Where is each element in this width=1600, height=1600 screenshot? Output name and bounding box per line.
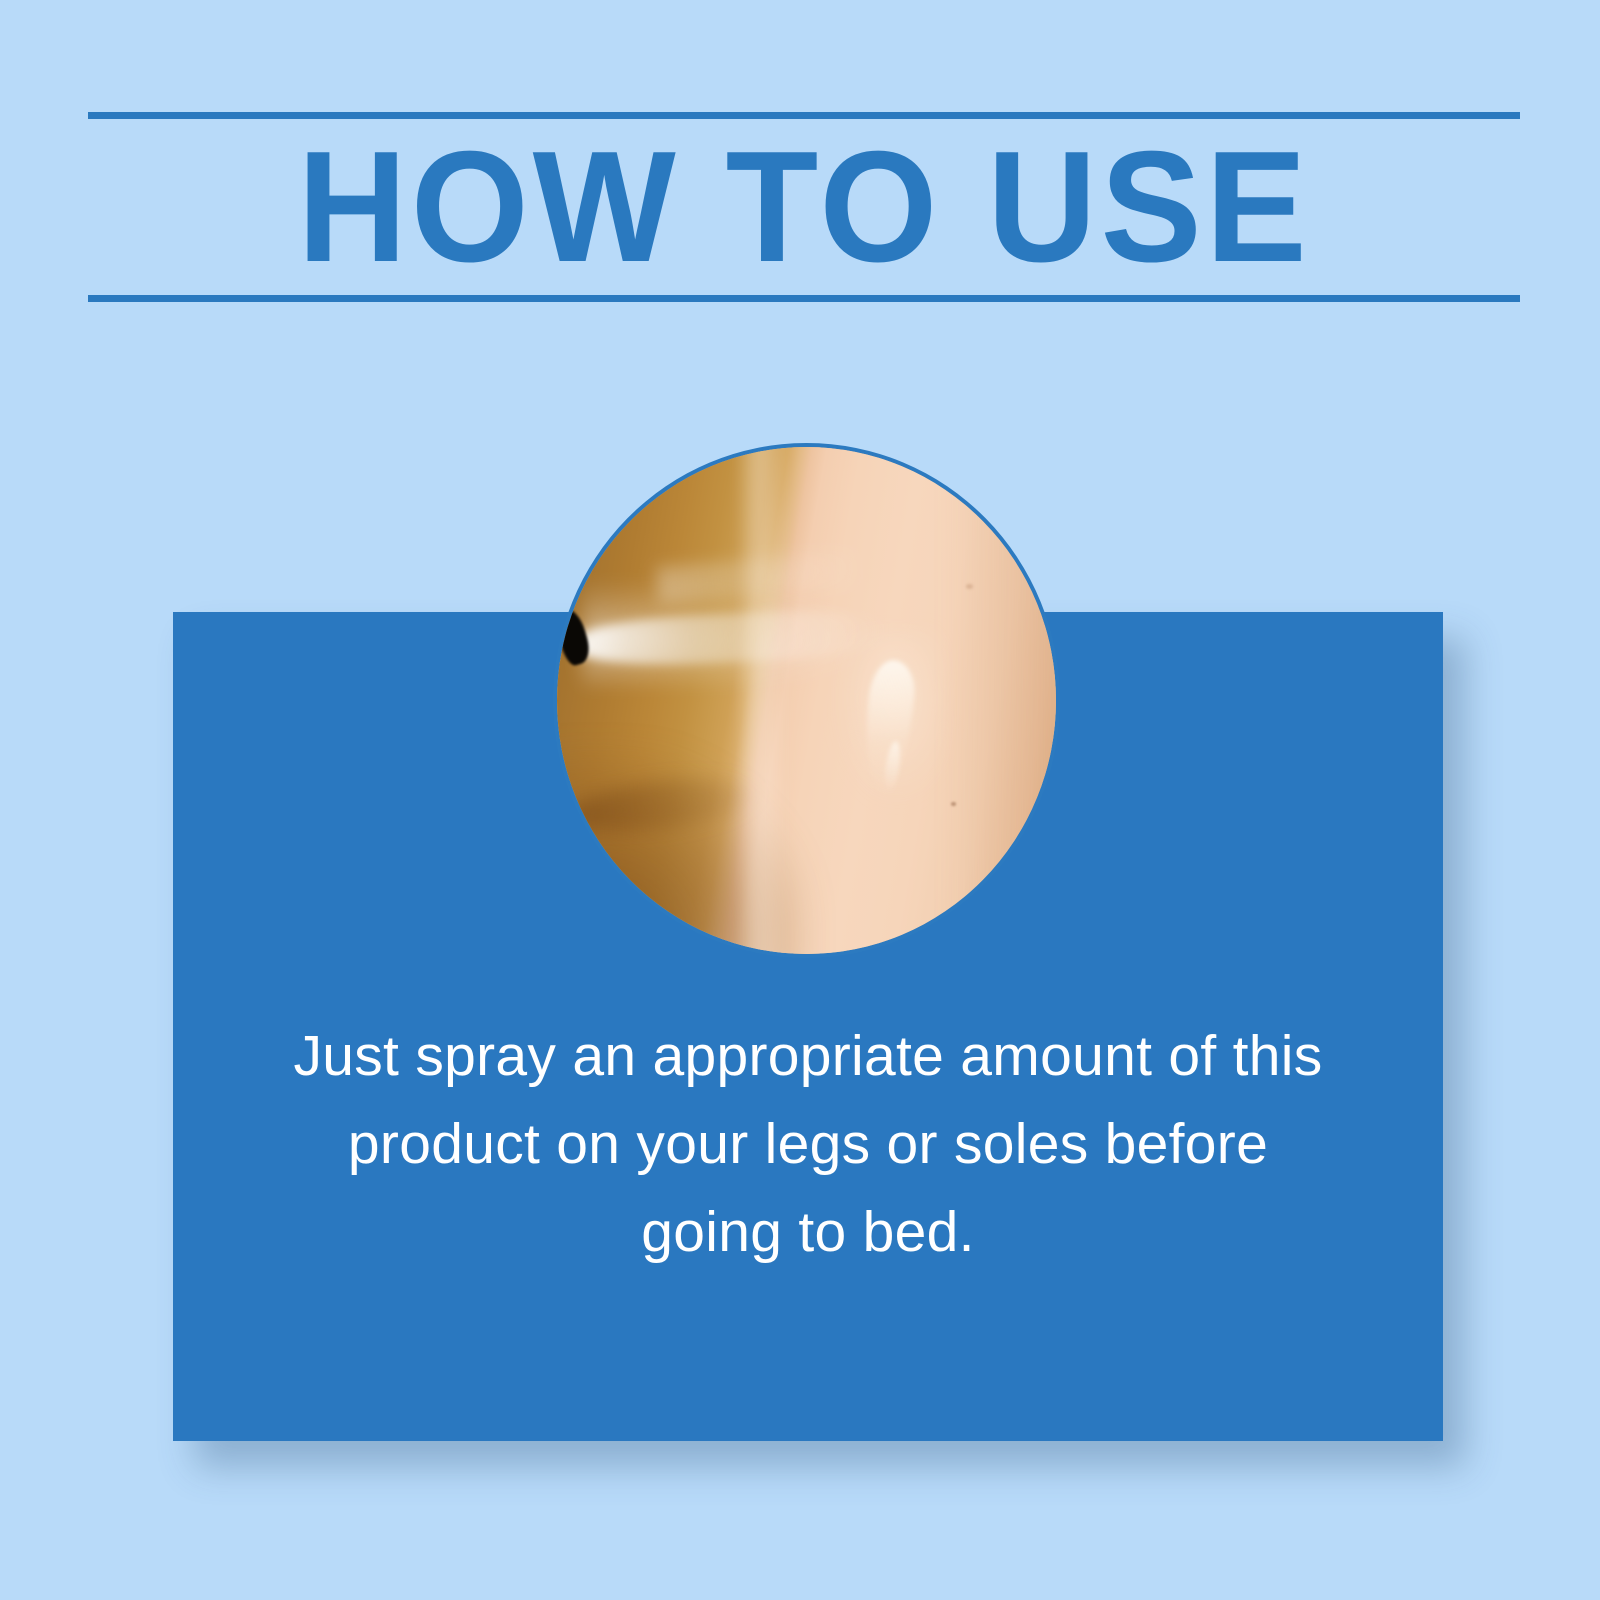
title-rule-bottom — [88, 295, 1520, 302]
leg-edge-highlight — [737, 443, 782, 958]
instruction-text: Just spray an appropriate amount of this… — [283, 1012, 1333, 1276]
leg-spray-application-photo — [553, 443, 1060, 958]
leg-right-shading — [946, 443, 1060, 958]
how-to-use-poster: HOW TO USE Just spray an appropriate amo… — [0, 0, 1600, 1600]
skin-mark-upper — [966, 584, 972, 590]
header-block: HOW TO USE — [88, 112, 1520, 302]
page-title: HOW TO USE — [117, 118, 1492, 296]
